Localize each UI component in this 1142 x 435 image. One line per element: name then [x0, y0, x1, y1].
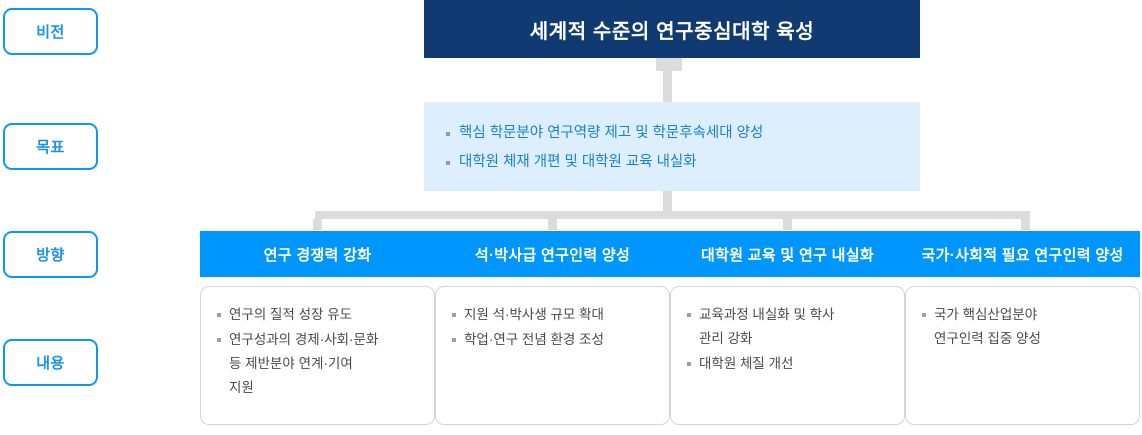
content-box-4: 국가 핵심산업분야 연구인력 집중 양성 — [905, 286, 1140, 425]
direction-header-2[interactable]: 석·박사급 연구인력 양성 — [435, 231, 670, 277]
vision-banner: 세계적 수준의 연구중심대학 육성 — [424, 0, 920, 58]
row-label-goal-text: 목표 — [36, 136, 65, 157]
vision-strategy-diagram: 비전 목표 방향 내용 세계적 수준의 연구중심대학 육성 핵심 학문분야 연구… — [0, 0, 1142, 435]
list-item-text: 연구성과의 경제·사회·문화 등 제반분야 연계·기여 지원 — [229, 328, 378, 400]
square-bullet-icon — [922, 313, 926, 317]
direction-header-1[interactable]: 연구 경쟁력 강화 — [200, 231, 435, 277]
list-item-text: 연구의 질적 성장 유도 — [229, 303, 352, 327]
goal-item: 핵심 학문분야 연구역량 제고 및 학문후속세대 양성 — [446, 119, 920, 148]
connector-stub-col1 — [313, 219, 322, 230]
connector-stub-col2 — [548, 219, 557, 230]
direction-header-3[interactable]: 대학원 교육 및 연구 내실화 — [670, 231, 905, 277]
row-label-content: 내용 — [3, 339, 98, 386]
content-box-1: 연구의 질적 성장 유도 연구성과의 경제·사회·문화 등 제반분야 연계·기여… — [200, 286, 435, 425]
list-item-text: 학업·연구 전념 환경 조성 — [464, 328, 604, 352]
row-label-goal: 목표 — [3, 123, 98, 170]
direction-header-3-text: 대학원 교육 및 연구 내실화 — [701, 244, 874, 265]
list-item-text: 국가 핵심산업분야 연구인력 집중 양성 — [934, 303, 1041, 351]
direction-column-3: 대학원 교육 및 연구 내실화 교육과정 내실화 및 학사 관리 강화 대학원 … — [670, 231, 905, 425]
connector-distribution-bar — [315, 211, 1030, 219]
goal-item-text: 핵심 학문분야 연구역량 제고 및 학문후속세대 양성 — [459, 119, 763, 148]
list-item: 교육과정 내실화 및 학사 관리 강화 — [687, 303, 892, 351]
list-item: 연구의 질적 성장 유도 — [217, 303, 422, 327]
square-bullet-icon — [452, 313, 456, 317]
square-bullet-icon — [446, 132, 450, 136]
list-item-text: 지원 석·박사생 규모 확대 — [464, 303, 604, 327]
list-item: 대학원 체질 개선 — [687, 352, 892, 376]
square-bullet-icon — [217, 313, 221, 317]
square-bullet-icon — [446, 161, 450, 165]
row-label-vision-text: 비전 — [36, 21, 65, 42]
list-item: 연구성과의 경제·사회·문화 등 제반분야 연계·기여 지원 — [217, 328, 422, 400]
square-bullet-icon — [687, 362, 691, 366]
direction-header-4[interactable]: 국가·사회적 필요 연구인력 양성 — [905, 231, 1140, 277]
goal-box: 핵심 학문분야 연구역량 제고 및 학문후속세대 양성 대학원 체재 개편 및 … — [424, 102, 920, 191]
square-bullet-icon — [217, 338, 221, 342]
vision-title: 세계적 수준의 연구중심대학 육성 — [530, 15, 814, 44]
direction-column-2: 석·박사급 연구인력 양성 지원 석·박사생 규모 확대 학업·연구 전념 환경… — [435, 231, 670, 425]
goal-item: 대학원 체재 개편 및 대학원 교육 내실화 — [446, 148, 920, 177]
list-item: 지원 석·박사생 규모 확대 — [452, 303, 657, 327]
goal-item-text: 대학원 체재 개편 및 대학원 교육 내실화 — [459, 148, 697, 177]
connector-stub-col3 — [783, 219, 792, 230]
row-label-content-text: 내용 — [36, 352, 65, 373]
direction-column-4: 국가·사회적 필요 연구인력 양성 국가 핵심산업분야 연구인력 집중 양성 — [905, 231, 1140, 425]
square-bullet-icon — [687, 313, 691, 317]
connector-stub-col4 — [1021, 219, 1030, 230]
row-label-vision: 비전 — [3, 8, 98, 55]
direction-column-1: 연구 경쟁력 강화 연구의 질적 성장 유도 연구성과의 경제·사회·문화 등 … — [200, 231, 435, 425]
row-label-direction-text: 방향 — [36, 244, 65, 265]
connector-vision-goal-stem — [663, 71, 672, 102]
direction-header-1-text: 연구 경쟁력 강화 — [264, 244, 372, 265]
row-label-direction: 방향 — [3, 231, 98, 278]
direction-header-2-text: 석·박사급 연구인력 양성 — [475, 244, 630, 265]
content-box-3: 교육과정 내실화 및 학사 관리 강화 대학원 체질 개선 — [670, 286, 905, 425]
square-bullet-icon — [452, 338, 456, 342]
content-box-2: 지원 석·박사생 규모 확대 학업·연구 전념 환경 조성 — [435, 286, 670, 425]
list-item: 학업·연구 전념 환경 조성 — [452, 328, 657, 352]
connector-goal-drop — [663, 191, 672, 213]
list-item: 국가 핵심산업분야 연구인력 집중 양성 — [922, 303, 1127, 351]
list-item-text: 교육과정 내실화 및 학사 관리 강화 — [699, 303, 834, 351]
list-item-text: 대학원 체질 개선 — [699, 352, 793, 376]
direction-header-4-text: 국가·사회적 필요 연구인력 양성 — [922, 244, 1124, 265]
connector-vision-goal-cap — [656, 58, 682, 71]
